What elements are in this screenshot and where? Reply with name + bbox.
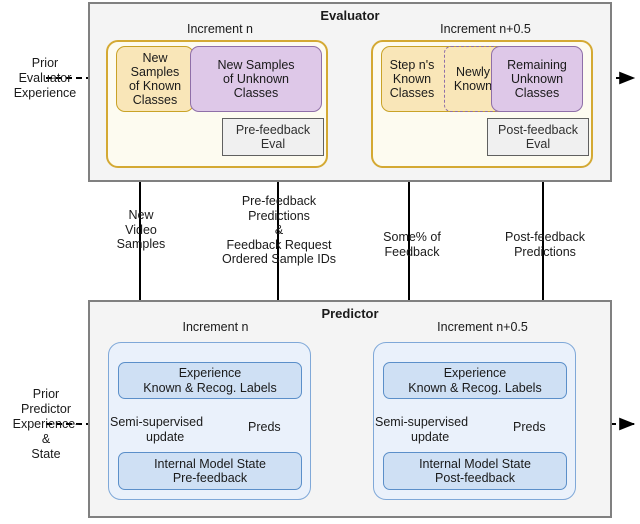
post-feedback-eval-label: Post-feedback Eval [488,123,588,151]
evaluator-increment-n05-label: Increment n+0.5 [378,22,593,37]
predictor-experience-box-n[interactable]: Experience Known & Recog. Labels [118,362,302,399]
predictor-increment-n-label: Increment n [108,320,323,335]
semi-supervised-update-line1-n: Semi-supervised [110,415,203,429]
predictor-model-state-box-n05[interactable]: Internal Model State Post-feedback [383,452,567,490]
predictor-increment-n05-label: Increment n+0.5 [375,320,590,335]
predictor-experience-label-n: Experience Known & Recog. Labels [119,366,301,395]
pre-feedback-eval-box[interactable]: Pre-feedback Eval [222,118,324,156]
predictor-model-state-box-n[interactable]: Internal Model State Pre-feedback [118,452,302,490]
semi-supervised-update-line2-n: update [110,430,184,445]
semi-supervised-update-line2-n05: update [375,430,449,445]
evaluator-new-known-samples-label: New Samples of Known Classes [117,51,193,107]
semi-supervised-update-label-n05: Semi-supervised update [375,415,468,444]
predictor-model-state-label-n: Internal Model State Pre-feedback [119,457,301,486]
semi-supervised-update-label-n: Semi-supervised update [110,415,203,444]
pre-feedback-eval-label: Pre-feedback Eval [223,123,323,151]
evaluator-new-unknown-samples-box[interactable]: New Samples of Unknown Classes [190,46,322,112]
predictor-experience-label-n05: Experience Known & Recog. Labels [384,366,566,395]
predictor-experience-box-n05[interactable]: Experience Known & Recog. Labels [383,362,567,399]
evaluator-increment-n-label: Increment n [110,22,330,37]
post-feedback-predictions-label: Post-feedback Predictions [480,230,610,259]
new-video-samples-label: New Video Samples [102,208,180,252]
preds-label-n05: Preds [513,420,546,435]
prior-evaluator-experience-label: Prior Evaluator Experience [0,56,90,101]
evaluator-remaining-unknown-box[interactable]: Remaining Unknown Classes [491,46,583,112]
diagram-canvas: Evaluator Increment n Increment n+0.5 Ne… [0,0,640,524]
evaluator-new-known-samples-box[interactable]: New Samples of Known Classes [116,46,194,112]
evaluator-new-unknown-samples-label: New Samples of Unknown Classes [191,58,321,100]
pre-feedback-predictions-label: Pre-feedback Predictions & Feedback Requ… [190,194,368,267]
predictor-title: Predictor [90,306,610,321]
predictor-model-state-label-n05: Internal Model State Post-feedback [384,457,566,486]
post-feedback-eval-box[interactable]: Post-feedback Eval [487,118,589,156]
evaluator-title: Evaluator [90,8,610,23]
evaluator-remaining-unknown-label: Remaining Unknown Classes [492,58,582,100]
evaluator-step-n-known-box[interactable]: Step n's Known Classes [381,46,443,112]
some-percent-feedback-label: Some% of Feedback [371,230,453,259]
semi-supervised-update-line1-n05: Semi-supervised [375,415,468,429]
prior-predictor-experience-label: Prior Predictor Experience- & State [0,387,92,462]
preds-label-n: Preds [248,420,281,435]
evaluator-step-n-known-label: Step n's Known Classes [381,58,443,100]
